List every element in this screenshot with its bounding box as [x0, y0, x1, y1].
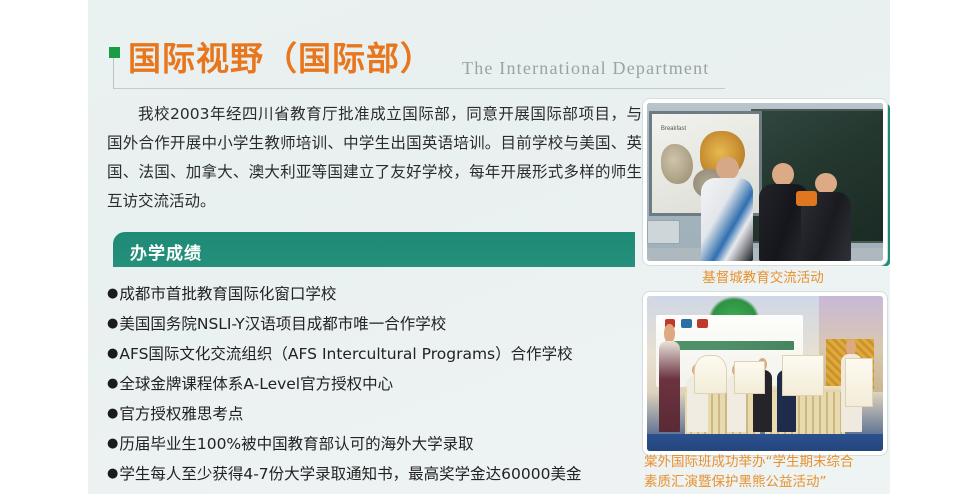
photo-desk [647, 220, 680, 244]
photo-stage-performance [643, 292, 887, 455]
list-item: ● AFS国际文化交流组织（AFS Intercultural Programs… [107, 341, 687, 371]
list-item: ● 全球金牌课程体系A-Level官方授权中心 [107, 371, 687, 401]
photo-student-head [716, 157, 739, 180]
photo-slide-image-a [661, 144, 693, 184]
list-item-label: 美国国务院NSLI-Y汉语项目成都市唯一合作学校 [119, 311, 446, 337]
photo-host [659, 324, 680, 433]
photo-stage-carpet [647, 434, 883, 451]
header-divider-rule [113, 88, 725, 89]
bullet-dot-icon: ● [107, 461, 118, 487]
photo-student-3 [800, 173, 852, 261]
photo-bottom-caption-line-1: 棠外国际班成功举办“学生期末综合 [644, 452, 886, 472]
list-item: ● 学生每人至少获得4-7份大学录取通知书，最高奖学金达60000美金 [107, 461, 687, 491]
list-item-label: 成都市首批教育国际化窗口学校 [119, 281, 336, 307]
bullet-dot-icon: ● [107, 401, 118, 427]
photo-calligraphy-scroll-2 [734, 361, 764, 394]
achievements-section-header: 办学成绩 [113, 232, 635, 267]
bullet-dot-icon: ● [107, 341, 118, 367]
list-item-label: 学生每人至少获得4-7份大学录取通知书，最高奖学金达60000美金 [119, 461, 581, 487]
list-item: ● 成都市首批教育国际化窗口学校 [107, 281, 687, 311]
marker-stem-divider [113, 58, 114, 88]
photo-calligraphy-scroll-1 [694, 355, 727, 394]
photo-bottom-caption-line-2: 素质汇演暨保护黑熊公益活动” [644, 472, 886, 492]
photo-person-body [659, 341, 680, 432]
list-item-label: AFS国际文化交流组织（AFS Intercultural Programs）合… [119, 341, 572, 367]
list-item: ● 官方授权雅思考点 [107, 401, 687, 431]
page-title: 国际视野（国际部） [128, 38, 434, 80]
list-item-label: 全球金牌课程体系A-Level官方授权中心 [119, 371, 393, 397]
photo-student-body [701, 178, 753, 261]
intro-paragraph: 我校2003年经四川省教育厅批准成立国际部，同意开展国际部项目，与国外合作开展中… [107, 100, 642, 216]
list-item-label: 官方授权雅思考点 [119, 401, 243, 427]
achievements-section-title: 办学成绩 [130, 239, 202, 264]
photo-calligraphy-scroll-3 [782, 355, 824, 396]
page-surface: 国际视野（国际部） The International Department 我… [88, 0, 890, 494]
photo-student-head [772, 163, 794, 186]
list-item: ● 美国国务院NSLI-Y汉语项目成都市唯一合作学校 [107, 311, 687, 341]
photo-student-head [815, 173, 837, 194]
photo-banner-logo-3 [697, 319, 707, 328]
photo-top-caption: 基督城教育交流活动 [640, 268, 886, 288]
photo-bottom-caption: 棠外国际班成功举办“学生期末综合 素质汇演暨保护黑熊公益活动” [644, 452, 886, 492]
photo-student-1 [699, 157, 756, 261]
photo-classroom-exchange: Breakfast [643, 99, 887, 265]
achievements-list: ● 成都市首批教育国际化窗口学校 ● 美国国务院NSLI-Y汉语项目成都市唯一合… [107, 281, 687, 491]
list-item: ● 历届毕业生100%被中国教育部认可的海外大学录取 [107, 431, 687, 461]
photo-column: Breakfast 基督城教育交流活动 [640, 0, 890, 494]
bullet-dot-icon: ● [107, 281, 118, 307]
list-item-label: 历届毕业生100%被中国教育部认可的海外大学录取 [119, 431, 473, 457]
bullet-dot-icon: ● [107, 431, 118, 457]
photo-banner-headline [665, 341, 794, 350]
photo-slide-title: Breakfast [661, 126, 686, 132]
bullet-dot-icon: ● [107, 311, 118, 337]
photo-calligraphy-scroll-4 [845, 358, 873, 407]
photo-handheld-object [796, 191, 817, 205]
photo-banner-logo-2 [681, 319, 691, 328]
bullet-dot-icon: ● [107, 371, 118, 397]
green-square-marker-icon [109, 47, 120, 58]
